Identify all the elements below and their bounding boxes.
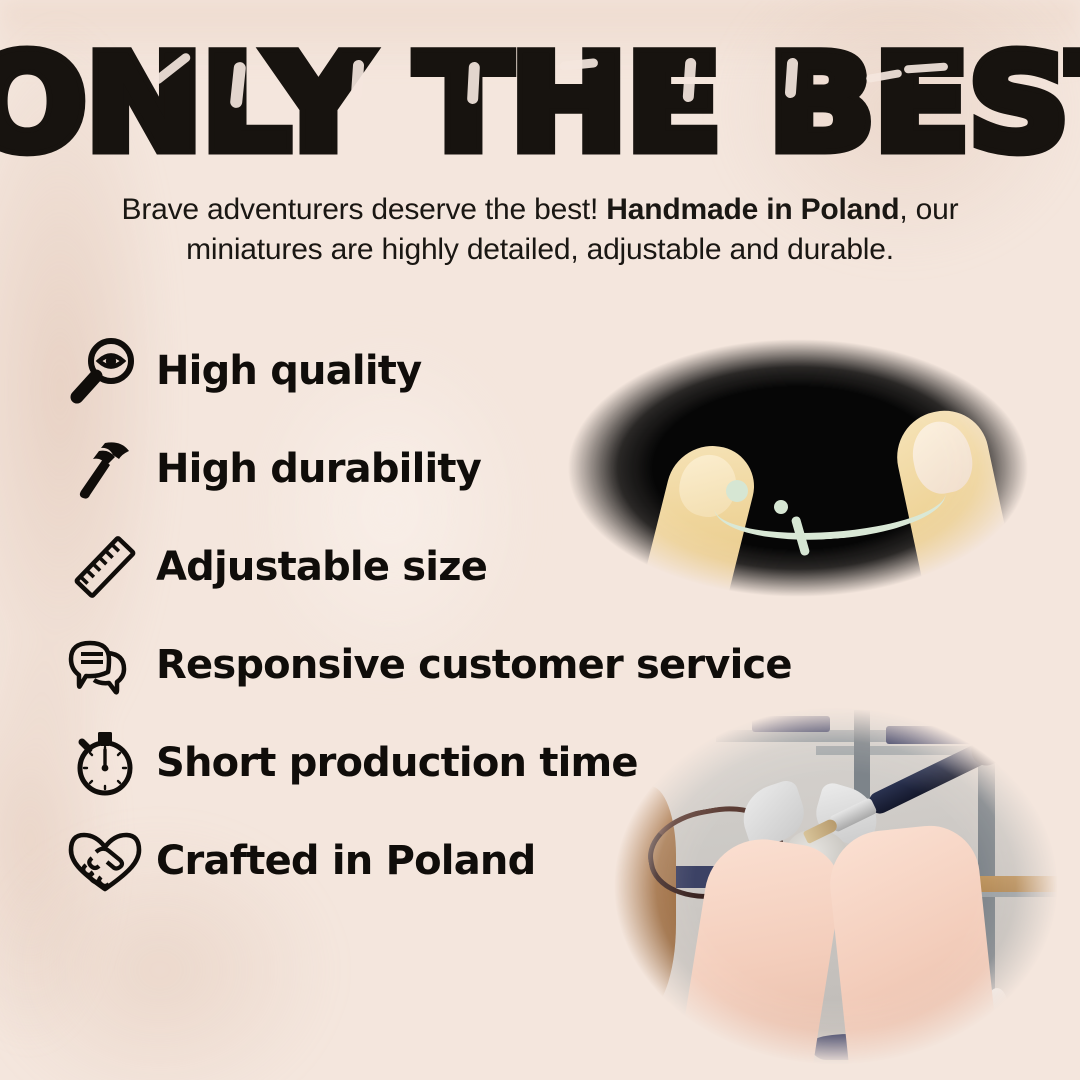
workbench-surface: [590, 786, 676, 1016]
miniature-joint-small: [774, 500, 788, 514]
magnifier-eye-icon: [62, 328, 148, 414]
feature-label: Responsive customer service: [156, 642, 792, 688]
promo-poster: ONLY THE BEST Brave adventurers deserve …: [0, 0, 1080, 1080]
tray-top-left: [752, 716, 830, 732]
miniature-joint: [726, 480, 748, 502]
handshake-heart-icon: [62, 818, 148, 904]
feature-label: High durability: [156, 446, 481, 492]
subtitle-lead: Brave adventurers deserve the best!: [122, 193, 599, 226]
speech-bubbles-icon: [62, 622, 148, 708]
photo-content: [586, 690, 1080, 1080]
ruler-icon: [62, 524, 148, 610]
hammer-icon: [62, 426, 148, 512]
headline-area: ONLY THE BEST: [0, 0, 1080, 190]
stopwatch-icon: [62, 720, 148, 806]
hand-right: [825, 821, 1001, 1080]
page-title: ONLY THE BEST: [0, 38, 1080, 170]
subtitle: Brave adventurers deserve the best! Hand…: [90, 190, 990, 270]
photo-content: [528, 304, 1068, 632]
feature-label: High quality: [156, 348, 421, 394]
feature-label: Crafted in Poland: [156, 838, 535, 884]
subtitle-highlight: Handmade in Poland: [606, 193, 899, 226]
flexible-miniature-photo: [528, 304, 1068, 632]
feature-label: Short production time: [156, 740, 638, 786]
workshop-painting-photo: [586, 690, 1080, 1080]
feature-label: Adjustable size: [156, 544, 487, 590]
